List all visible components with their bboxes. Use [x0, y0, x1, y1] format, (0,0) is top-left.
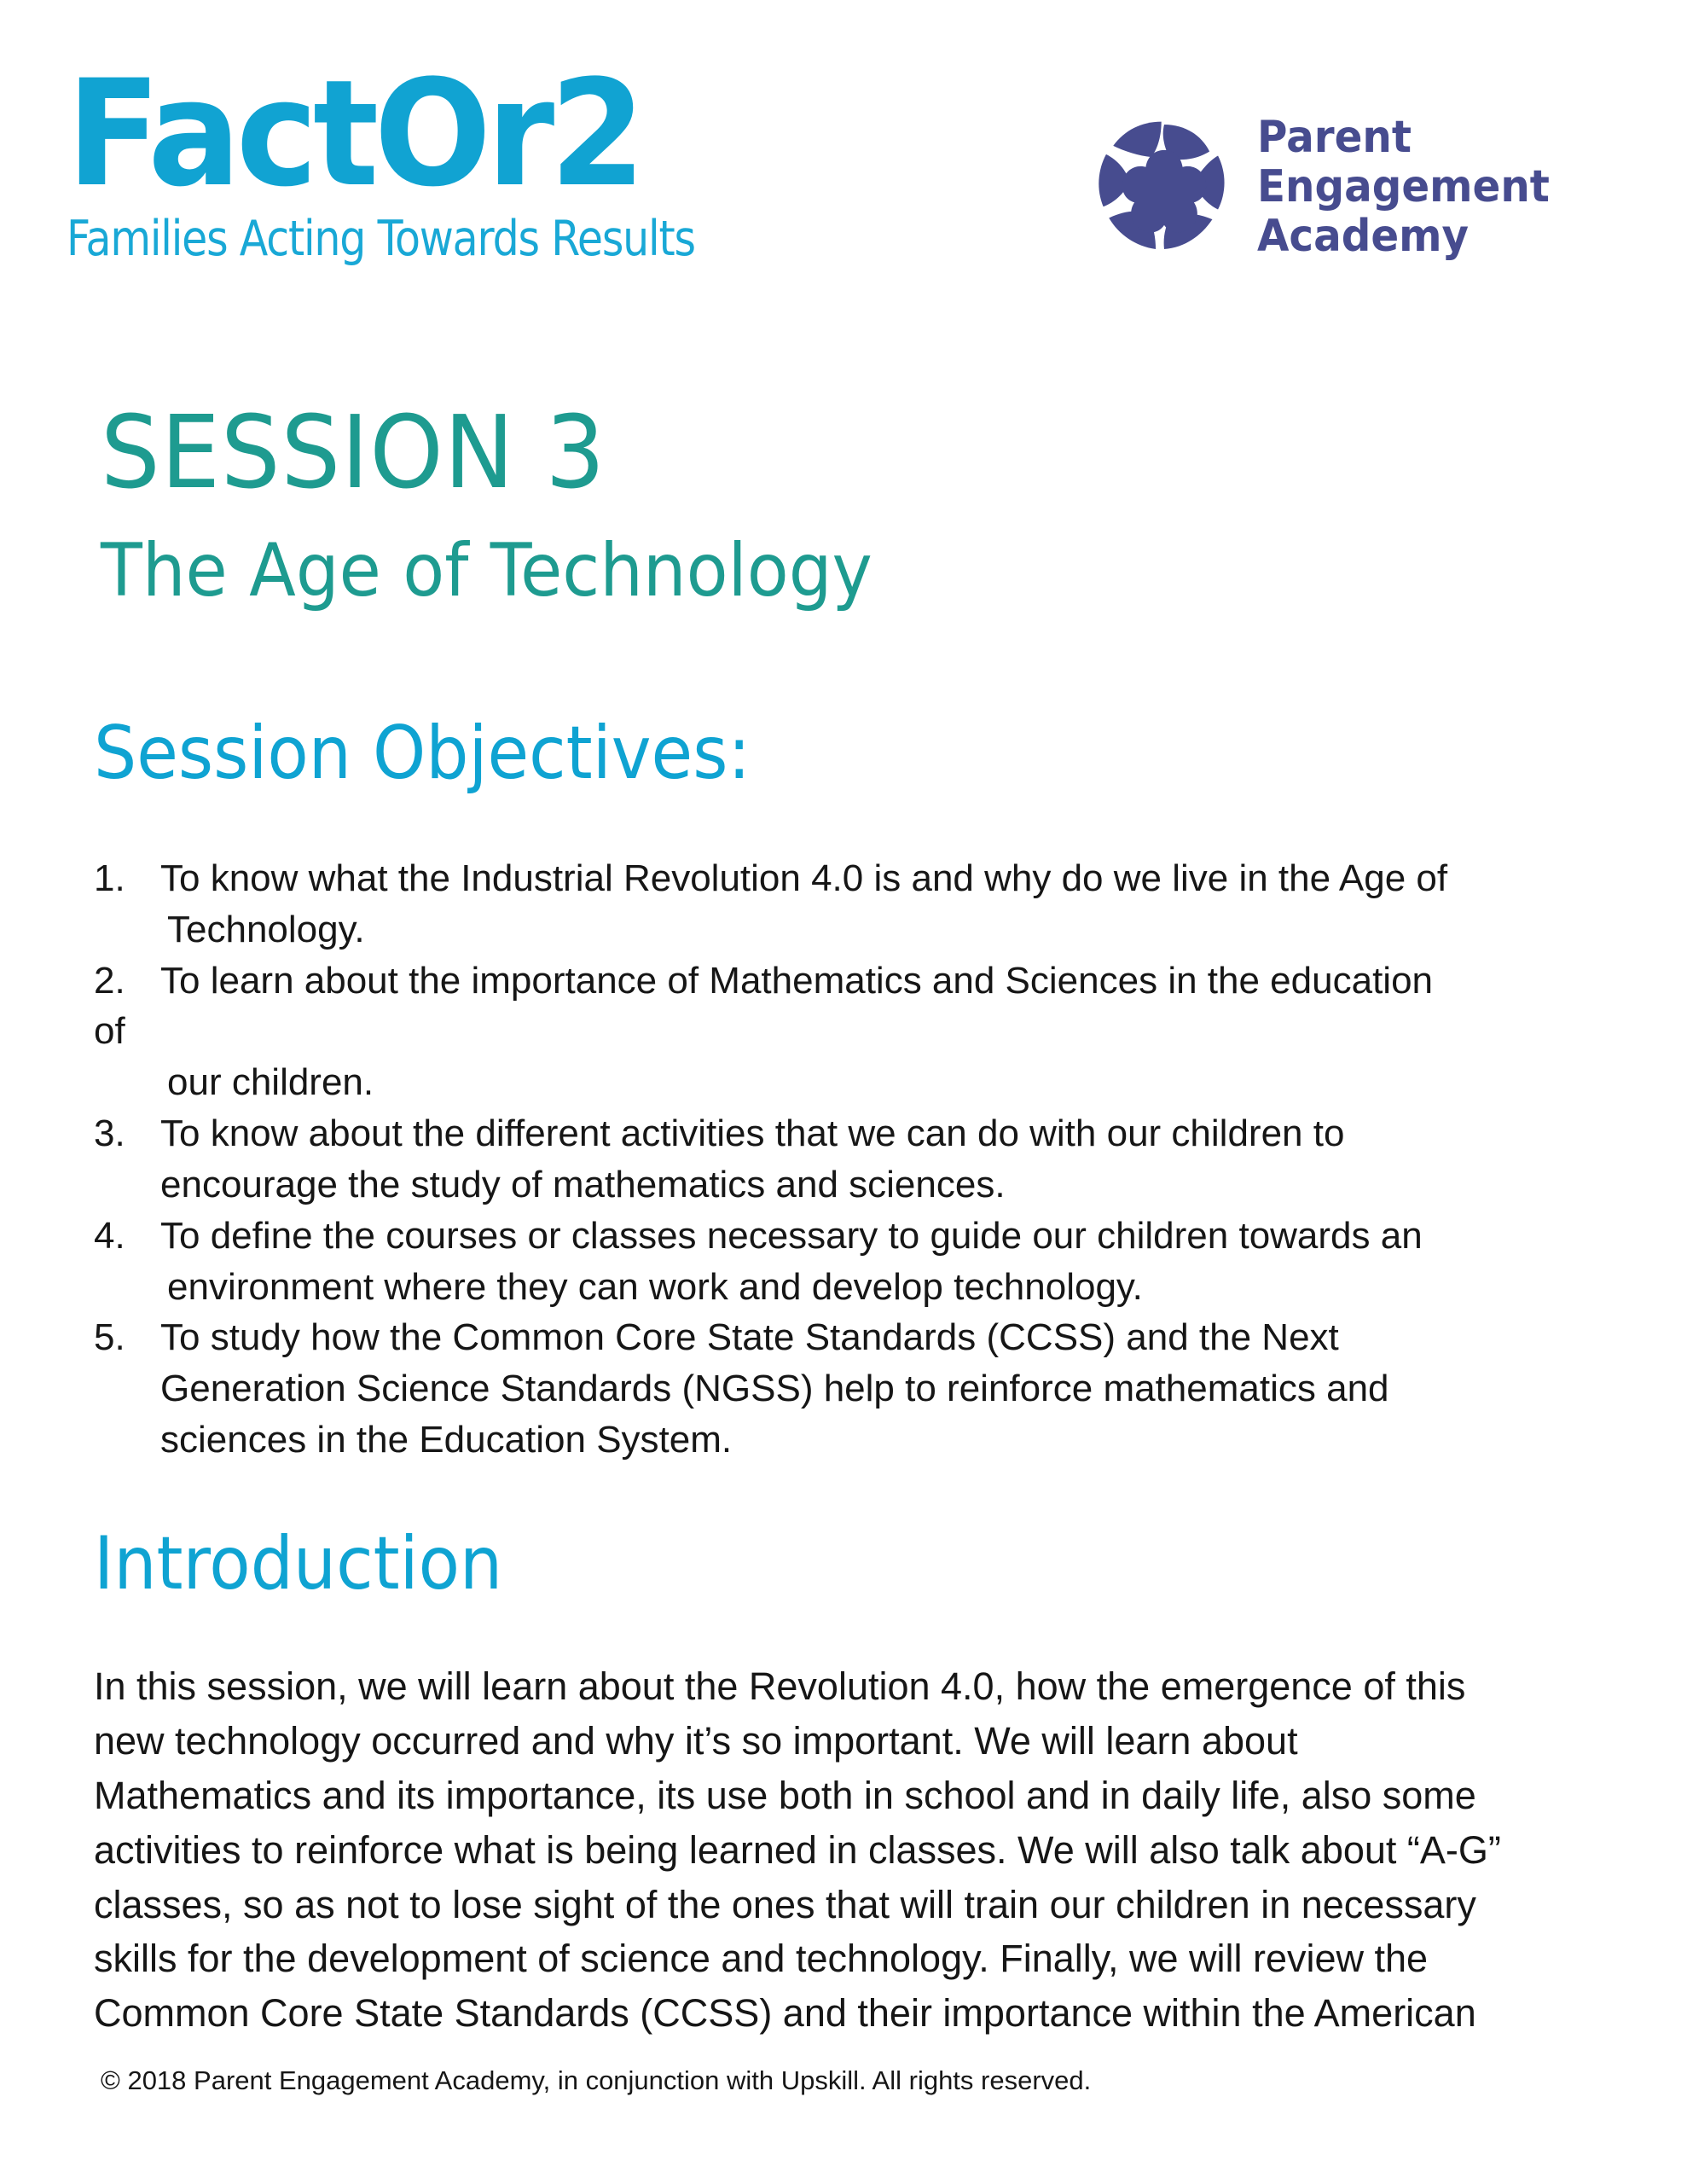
- list-item-text: To know what the Industrial Revolution 4…: [160, 853, 1447, 904]
- list-item-continuation: our children.: [94, 1057, 1595, 1108]
- list-item: 1.To know what the Industrial Revolution…: [94, 853, 1595, 904]
- pea-name-line-3: Academy: [1257, 212, 1550, 261]
- paragraph-line: new technology occurred and why it’s so …: [94, 1714, 1620, 1769]
- list-item-continuation: sciences in the Education System.: [94, 1414, 1595, 1466]
- list-item-continuation: of: [94, 1006, 1595, 1057]
- list-item-number: 5.: [94, 1312, 160, 1363]
- list-item-continuation: Generation Science Standards (NGSS) help…: [94, 1363, 1595, 1414]
- section-heading-objectives: Session Objectives:: [94, 717, 751, 790]
- paragraph-line: classes, so as not to lose sight of the …: [94, 1878, 1620, 1932]
- list-item-text: To learn about the importance of Mathema…: [160, 955, 1433, 1007]
- paragraph-line: Common Core State Standards (CCSS) and t…: [94, 1986, 1620, 2041]
- list-item: 4.To define the courses or classes neces…: [94, 1211, 1595, 1262]
- paragraph-line: In this session, we will learn about the…: [94, 1659, 1620, 1714]
- list-item-number: 4.: [94, 1211, 160, 1262]
- list-item: 5.To study how the Common Core State Sta…: [94, 1312, 1595, 1363]
- factor2-tagline: Families Acting Towards Results: [67, 215, 727, 264]
- paragraph-line: skills for the development of science an…: [94, 1931, 1620, 1986]
- list-item-text: To study how the Common Core State Stand…: [160, 1312, 1339, 1363]
- page-title: SESSION 3: [101, 401, 606, 503]
- introduction-paragraph: In this session, we will learn about the…: [94, 1659, 1620, 2041]
- list-item-number: 3.: [94, 1108, 160, 1159]
- paragraph-line: Mathematics and its importance, its use …: [94, 1769, 1620, 1823]
- list-item-text: To define the courses or classes necessa…: [160, 1211, 1423, 1262]
- list-item-text: To know about the different activities t…: [160, 1108, 1344, 1159]
- parent-engagement-academy-logo: Parent Engagement Academy: [1093, 113, 1572, 262]
- list-item-continuation: Technology.: [94, 904, 1595, 955]
- list-item-continuation: encourage the study of mathematics and s…: [94, 1159, 1595, 1211]
- factor2-logo: FactOr2 Families Acting Towards Results: [67, 67, 834, 264]
- pea-name-line-2: Engagement: [1257, 162, 1550, 212]
- list-item-number: 2.: [94, 955, 160, 1007]
- page-header: FactOr2 Families Acting Towards Results: [0, 0, 1687, 367]
- list-item: 3.To know about the different activities…: [94, 1108, 1595, 1159]
- document-page: FactOr2 Families Acting Towards Results: [0, 0, 1687, 2184]
- factor2-wordmark: FactOr2: [67, 67, 788, 201]
- list-item-number: 1.: [94, 853, 160, 904]
- pea-name-line-1: Parent: [1257, 113, 1550, 162]
- section-heading-introduction: Introduction: [94, 1527, 502, 1600]
- list-item-continuation: environment where they can work and deve…: [94, 1262, 1595, 1313]
- parent-engagement-academy-name: Parent Engagement Academy: [1257, 113, 1550, 262]
- paragraph-line: activities to reinforce what is being le…: [94, 1823, 1620, 1878]
- page-subtitle: The Age of Technology: [101, 533, 872, 609]
- footer-copyright: © 2018 Parent Engagement Academy, in con…: [101, 2065, 1091, 2096]
- flower-pinwheel-icon: [1093, 116, 1235, 258]
- objectives-list: 1.To know what the Industrial Revolution…: [94, 853, 1595, 1466]
- list-item: 2.To learn about the importance of Mathe…: [94, 955, 1595, 1007]
